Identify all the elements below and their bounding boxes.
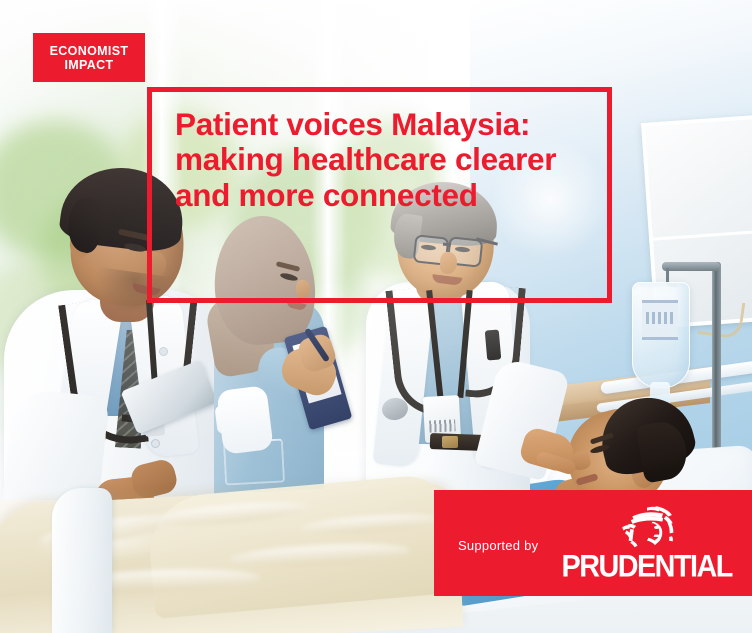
coat-button	[160, 348, 167, 355]
supported-by-label: Supported by	[458, 538, 538, 553]
sponsor-bar: Supported by	[434, 490, 752, 596]
prudential-logo[interactable]: PRUDENTIAL	[554, 504, 740, 583]
logo-line-2: IMPACT	[64, 58, 113, 72]
prudence-figure-icon	[610, 504, 684, 548]
page-title: Patient voices Malaysia: making healthca…	[175, 107, 603, 213]
coat-button	[152, 440, 159, 447]
undershirt-sleeve	[216, 385, 273, 455]
prudential-wordmark: PRUDENTIAL	[562, 549, 732, 585]
iv-bag-label	[642, 300, 678, 340]
bed-footboard	[52, 488, 112, 633]
economist-impact-logo[interactable]: ECONOMIST IMPACT	[33, 33, 145, 82]
logo-line-1: ECONOMIST	[50, 44, 129, 58]
report-cover: ECONOMIST IMPACT Patient voices Malaysia…	[0, 0, 752, 633]
pocket-pen	[485, 329, 502, 360]
belt-buckle	[442, 436, 458, 448]
